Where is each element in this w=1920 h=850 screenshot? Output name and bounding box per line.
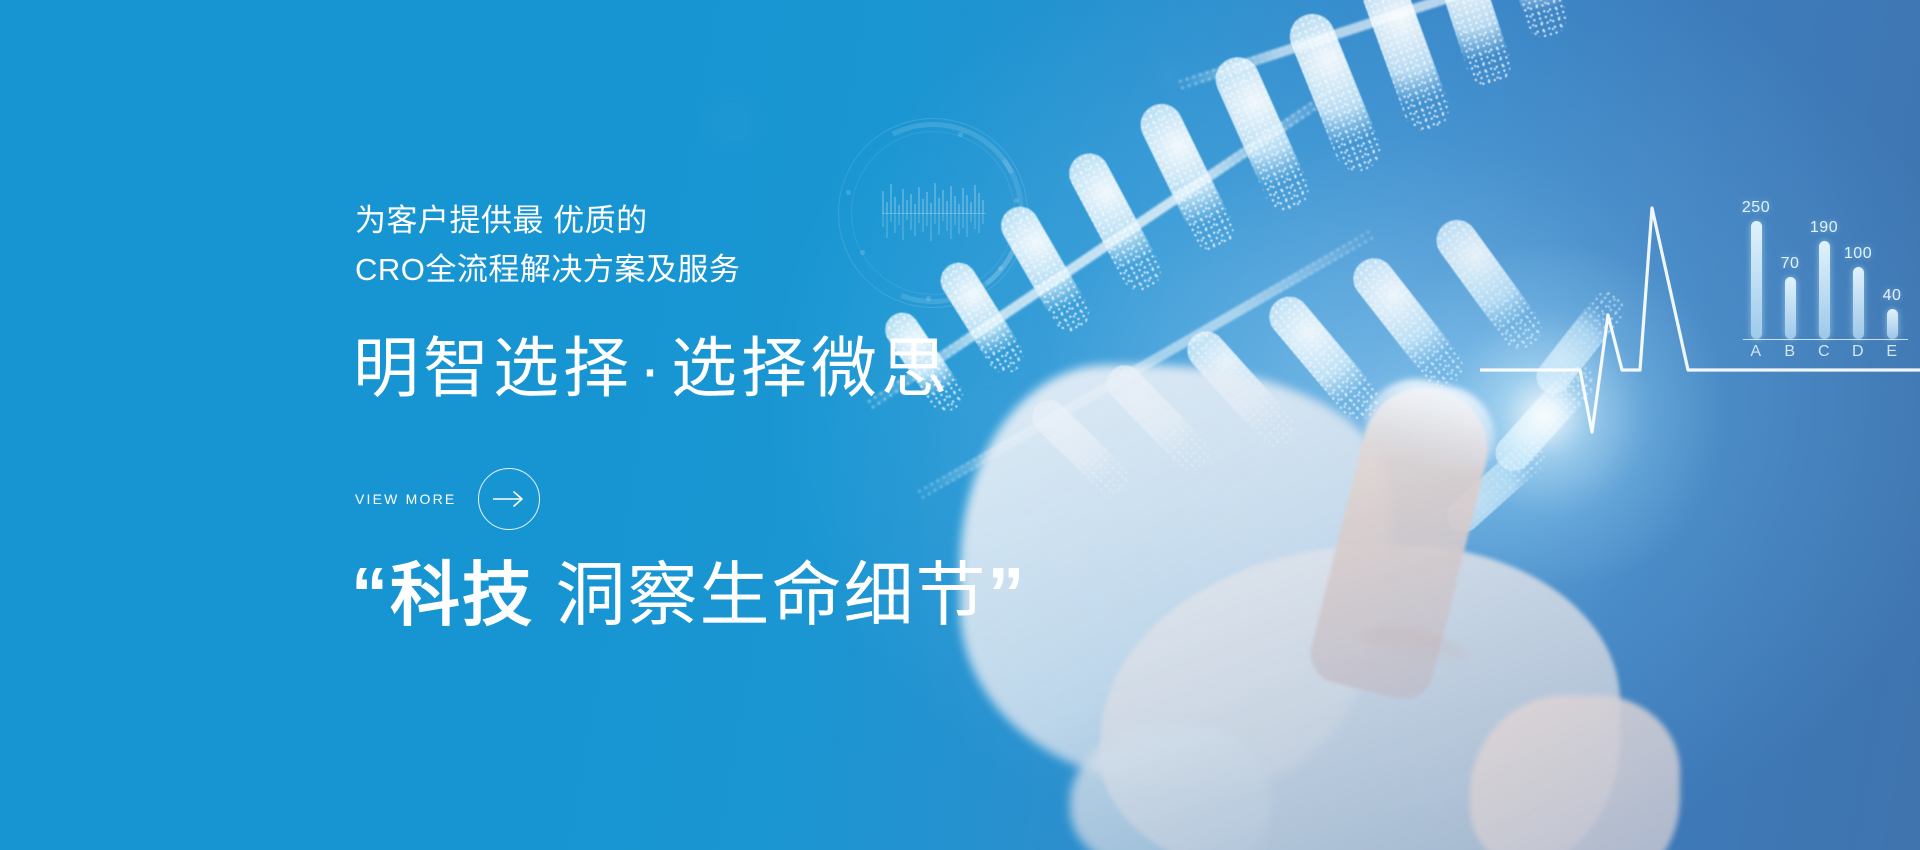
category-label: E bbox=[1879, 343, 1905, 361]
bokeh-dot bbox=[1135, 690, 1285, 840]
view-more-button[interactable]: VIEW MORE bbox=[355, 468, 540, 530]
category-label: D bbox=[1845, 343, 1871, 361]
hand-pointing-icon bbox=[1040, 395, 1680, 850]
bokeh-dot bbox=[1156, 60, 1182, 86]
bar-column-c: 190 bbox=[1811, 196, 1837, 339]
headline-right: 选择微思 bbox=[671, 331, 951, 405]
bar-chart-plot: 250 70 190 100 40 bbox=[1743, 196, 1908, 339]
headline-left: 明智选择 bbox=[353, 331, 633, 405]
bar-column-d: 100 bbox=[1845, 196, 1871, 339]
hero-quote: “科技 洞察生命细节” bbox=[351, 552, 1026, 637]
bar-chart: 250 70 190 100 40 bbox=[1743, 196, 1908, 371]
view-more-label: VIEW MORE bbox=[355, 491, 456, 507]
hero-banner: 250 70 190 100 40 bbox=[0, 0, 1920, 850]
bar-column-b: 70 bbox=[1777, 196, 1803, 339]
bar-a bbox=[1751, 221, 1762, 339]
category-label: C bbox=[1811, 343, 1837, 361]
bar-c bbox=[1819, 241, 1830, 339]
quote-close-mark: ” bbox=[987, 552, 1026, 635]
quote-open-mark: “ bbox=[351, 552, 390, 635]
bar-column-e: 40 bbox=[1879, 196, 1905, 339]
bar-value-label: 70 bbox=[1781, 255, 1800, 273]
subtitle-line-1: 为客户提供最 优质的 bbox=[355, 203, 648, 238]
bokeh-dot bbox=[1480, 690, 1510, 720]
quote-light-text: 洞察生命细节 bbox=[534, 556, 987, 634]
hero-subtitle: 为客户提供最 优质的 CRO全流程解决方案及服务 bbox=[355, 196, 1115, 294]
bar-value-label: 190 bbox=[1810, 219, 1838, 237]
bar-value-label: 40 bbox=[1883, 287, 1902, 305]
bokeh-dot bbox=[1250, 770, 1272, 792]
bar-e bbox=[1887, 309, 1898, 339]
bar-chart-categories: A B C D E bbox=[1743, 343, 1908, 367]
quote-strong-text: 科技 bbox=[390, 556, 534, 634]
glow-highlight bbox=[1330, 250, 1760, 580]
bar-d bbox=[1853, 267, 1864, 339]
category-label: A bbox=[1743, 343, 1769, 361]
bar-chart-axis bbox=[1743, 339, 1908, 341]
hero-headline: 明智选择·选择微思 bbox=[353, 330, 951, 406]
bar-value-label: 250 bbox=[1742, 199, 1770, 217]
bar-value-label: 100 bbox=[1844, 245, 1872, 263]
arrow-right-icon[interactable] bbox=[478, 468, 540, 530]
bar-column-a: 250 bbox=[1743, 196, 1769, 339]
ecg-waveform-icon bbox=[1480, 170, 1920, 490]
bar-b bbox=[1785, 277, 1796, 339]
hero-copy: 为客户提供最 优质的 CRO全流程解决方案及服务 明智选择·选择微思 VIEW … bbox=[355, 0, 1115, 850]
headline-separator: · bbox=[633, 331, 671, 405]
subtitle-line-2: CRO全流程解决方案及服务 bbox=[355, 245, 1115, 294]
bokeh-dot bbox=[1705, 505, 1723, 523]
category-label: B bbox=[1777, 343, 1803, 361]
